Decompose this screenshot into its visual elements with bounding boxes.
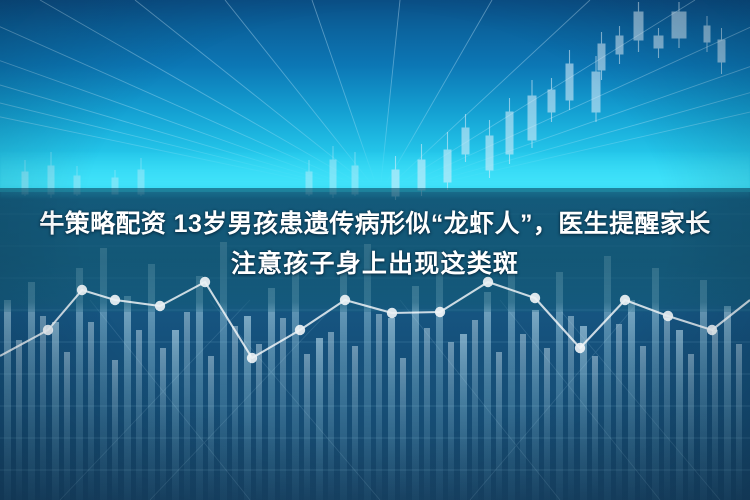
cover-image: 牛策略配资 13岁男孩患遗传病形似“龙虾人”，医生提醒家长 注意孩子身上出现这类…	[0, 0, 750, 500]
headline-line-2: 注意孩子身上出现这类斑	[0, 244, 750, 284]
headline-line-1: 牛策略配资 13岁男孩患遗传病形似“龙虾人”，医生提醒家长	[0, 204, 750, 244]
headline: 牛策略配资 13岁男孩患遗传病形似“龙虾人”，医生提醒家长 注意孩子身上出现这类…	[0, 204, 750, 284]
